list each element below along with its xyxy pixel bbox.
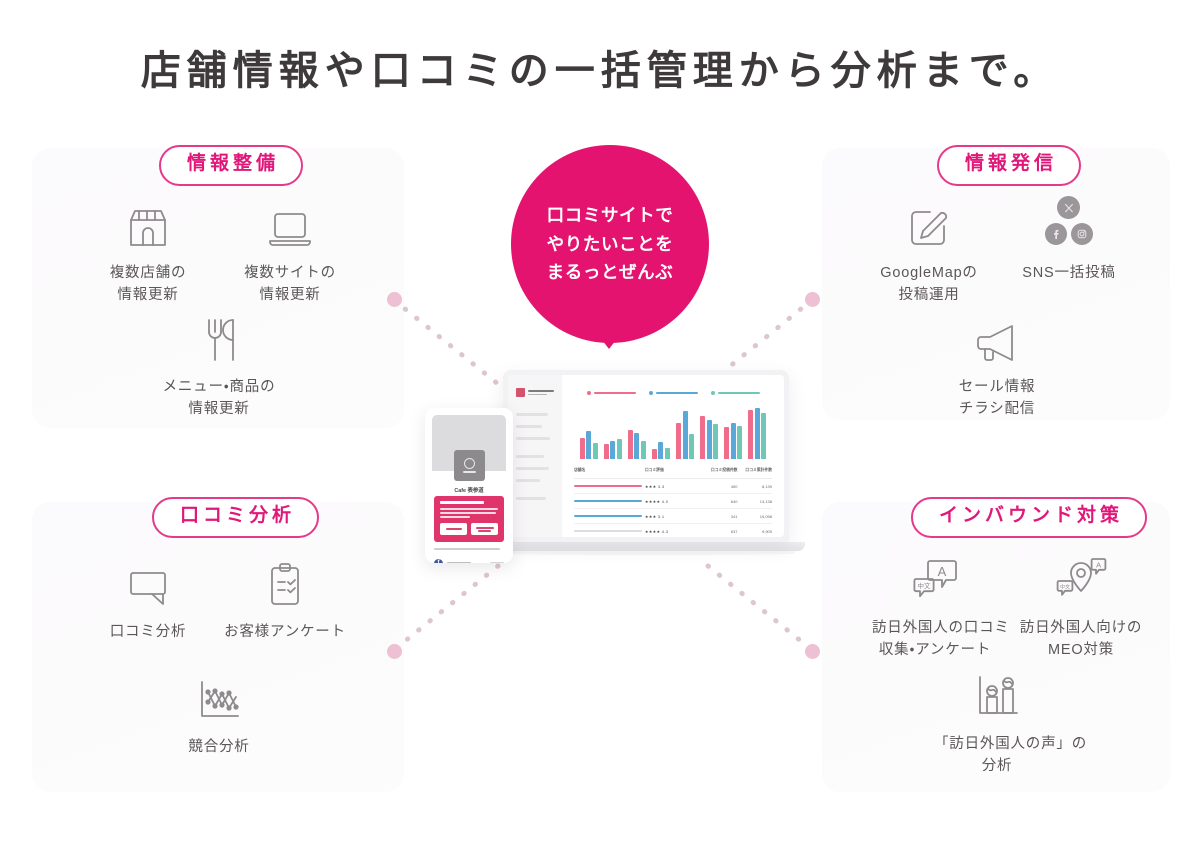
- facebook-icon: [1045, 223, 1067, 245]
- svg-text:A: A: [938, 564, 947, 579]
- feature-customer-survey: お客様アンケート: [222, 555, 348, 643]
- badge-joho-hasshin: 情報発信: [937, 145, 1081, 186]
- globe-bar-chart-icon: [934, 667, 1060, 721]
- chart-bar: [652, 449, 657, 459]
- svg-text:中文: 中文: [918, 581, 932, 590]
- table-row[interactable]: ★★★ 3.34508,139: [574, 479, 772, 494]
- cell-total: 9,909: [737, 529, 772, 534]
- cell-posts: 640: [696, 499, 738, 504]
- sidebar-nav-item[interactable]: [516, 437, 550, 440]
- chart-bar: [610, 441, 615, 459]
- survey-answer-button[interactable]: [471, 523, 498, 535]
- connector-dot-top-right: [805, 292, 820, 307]
- cell-rating: ★★★★ 4.3: [645, 529, 696, 534]
- chart-bar: [683, 411, 688, 459]
- connector-dot-top-left: [387, 292, 402, 307]
- col-header-posts: 口コミ投稿件数: [696, 468, 738, 473]
- share-label: [447, 562, 471, 563]
- chart-bar: [665, 448, 670, 459]
- connector-dot-bottom-right: [805, 644, 820, 659]
- dashboard-logo: [516, 388, 554, 397]
- dashboard-sidebar: [508, 375, 562, 537]
- badge-inbound-taisaku: インバウンド対策: [911, 497, 1147, 538]
- chart-bar: [737, 426, 742, 459]
- feature-label: 訪日外国人向けの MEO対策: [1018, 617, 1144, 662]
- col-header-total: 口コミ累計件数: [737, 468, 772, 473]
- x-twitter-icon: [1057, 196, 1080, 219]
- bar-group: [604, 439, 622, 459]
- svg-text:中文: 中文: [1060, 583, 1070, 590]
- sidebar-nav-item[interactable]: [516, 467, 549, 470]
- feature-label: 競合分析: [156, 736, 282, 758]
- bubble-line-2: やりたいことを: [547, 230, 674, 258]
- grouped-bar-chart: [574, 403, 772, 459]
- device-mockup: 店舗名 口コミ評価 口コミ投稿件数 口コミ累計件数 ★★★ 3.34508,13…: [425, 362, 805, 570]
- survey-heading: [440, 501, 484, 504]
- feature-googlemap-posting: GoogleMapの 投稿運用: [866, 196, 992, 307]
- feature-foreign-voice-analysis: 「訪日外国人の声」の 分析: [934, 667, 1060, 778]
- megaphone-icon: [935, 310, 1059, 364]
- bar-group: [700, 416, 718, 459]
- sidebar-nav-item[interactable]: [516, 413, 548, 416]
- share-action[interactable]: [490, 562, 504, 563]
- chart-bar: [707, 420, 712, 459]
- translate-bubbles-icon: A 中文: [872, 551, 998, 605]
- feature-label: 複数店舗の 情報更新: [86, 262, 210, 307]
- chart-bar: [700, 416, 705, 459]
- laptop-base: [487, 542, 805, 551]
- store-name: Cafe 表参道: [425, 486, 513, 494]
- bar-group: [652, 442, 670, 459]
- cell-store: [574, 485, 645, 488]
- edit-pencil-icon: [866, 196, 992, 250]
- table-row[interactable]: ★★★★ 4.36379,909: [574, 524, 772, 537]
- cell-store: [574, 530, 645, 533]
- feature-label: 「訪日外国人の声」の 分析: [934, 733, 1060, 778]
- chart-bar: [761, 413, 766, 459]
- chart-bar: [580, 438, 585, 459]
- chart-bar: [755, 408, 760, 459]
- bubble-line-3: まるっとぜんぶ: [547, 258, 674, 286]
- table-body: ★★★ 3.34508,139★★★★ 4.064013,138★★★ 3.13…: [574, 479, 772, 537]
- bubble-line-1: 口コミサイトで: [547, 201, 674, 229]
- chart-bar: [731, 423, 736, 459]
- storefront-icon: [86, 196, 210, 250]
- feature-review-analysis: 口コミ分析: [86, 555, 210, 643]
- cell-rating: ★★★ 3.1: [645, 514, 696, 519]
- store-logo-thumbnail: [454, 450, 485, 481]
- feature-label: 口コミ分析: [86, 621, 210, 643]
- facebook-icon: f: [434, 559, 443, 564]
- feature-foreign-review-collection: A 中文 訪日外国人の口コミ 収集・アンケート: [872, 551, 998, 662]
- feature-label: SNS一括投稿: [1006, 262, 1132, 284]
- chart-bar: [689, 434, 694, 459]
- share-note: [434, 548, 500, 550]
- feature-label: お客様アンケート: [222, 621, 348, 643]
- logo-wordmark: [528, 390, 554, 396]
- logo-mark-icon: [516, 388, 525, 397]
- survey-text-line: [440, 512, 496, 514]
- bar-group: [580, 431, 598, 459]
- bar-group: [724, 423, 742, 459]
- line-chart-icon: [156, 670, 282, 724]
- dashboard-main: 店舗名 口コミ評価 口コミ投稿件数 口コミ累計件数 ★★★ 3.34508,13…: [562, 375, 784, 537]
- feature-competitor-analysis: 競合分析: [156, 670, 282, 758]
- feature-menu-product-update: メニュー・商品の 情報更新: [156, 310, 282, 421]
- clipboard-check-icon: [222, 555, 348, 609]
- cell-posts: 450: [696, 484, 738, 489]
- bar-group: [628, 430, 646, 459]
- badge-kuchikomi-bunseki: 口コミ分析: [152, 497, 319, 538]
- chart-bar: [713, 424, 718, 459]
- legend-item: [649, 391, 698, 395]
- store-logo-glyph-icon: [464, 458, 475, 469]
- laptop-foot: [499, 551, 795, 555]
- svg-text:A: A: [1096, 561, 1101, 570]
- chart-bar: [634, 433, 639, 459]
- col-header-store: 店舗名: [574, 468, 645, 473]
- cell-posts: 341: [696, 514, 738, 519]
- feature-label: GoogleMapの 投稿運用: [866, 262, 992, 307]
- promo-infographic: 店舗情報や口コミの一括管理から分析まで。 情報整備 情報発信 口コミ分析 インバ…: [0, 0, 1200, 846]
- chart-bar: [676, 423, 681, 459]
- survey-later-button[interactable]: [440, 523, 467, 535]
- sidebar-nav-item[interactable]: [516, 455, 544, 458]
- table-row[interactable]: ★★★ 3.134115,098: [574, 509, 772, 524]
- connector-bottom-right: [700, 558, 820, 658]
- feature-label: メニュー・商品の 情報更新: [156, 376, 282, 421]
- feature-label: セール情報 チラシ配信: [935, 376, 1059, 421]
- cell-rating: ★★★★ 4.0: [645, 499, 696, 504]
- survey-prompt-card: [434, 496, 504, 542]
- phone-mockup: Cafe 表参道 f 𝕏: [425, 408, 513, 563]
- instagram-icon: [1071, 223, 1093, 245]
- center-callout-bubble: 口コミサイトで やりたいことを まるっとぜんぶ: [511, 145, 709, 343]
- feature-foreign-meo: A 中文 訪日外国人向けの MEO対策: [1018, 551, 1144, 662]
- share-list: f 𝕏: [434, 555, 504, 563]
- connector-dot-bottom-left: [387, 644, 402, 659]
- chart-bar: [593, 443, 598, 459]
- chart-bar: [658, 442, 663, 459]
- sidebar-nav-item[interactable]: [516, 497, 546, 500]
- speech-bubble-icon: [86, 555, 210, 609]
- bar-group: [676, 411, 694, 459]
- survey-buttons: [440, 523, 498, 535]
- cell-store: [574, 500, 645, 503]
- chart-bar: [604, 444, 609, 459]
- cell-total: 13,138: [737, 499, 772, 504]
- feature-label: 複数サイトの 情報更新: [228, 262, 352, 307]
- reviews-table: 店舗名 口コミ評価 口コミ投稿件数 口コミ累計件数 ★★★ 3.34508,13…: [574, 468, 772, 537]
- sidebar-nav-item[interactable]: [516, 425, 542, 428]
- cell-total: 15,098: [737, 514, 772, 519]
- feature-sale-flyer-delivery: セール情報 チラシ配信: [935, 310, 1059, 421]
- chart-bar: [586, 431, 591, 459]
- chart-bar: [748, 410, 753, 459]
- chart-bar: [724, 427, 729, 459]
- social-cluster-icon: [1006, 196, 1132, 250]
- feature-sns-bulk-post: SNS一括投稿: [1006, 196, 1132, 284]
- map-pin-translate-icon: A 中文: [1018, 551, 1144, 605]
- feature-label: 訪日外国人の口コミ 収集・アンケート: [872, 617, 998, 662]
- chart-bar: [641, 441, 646, 459]
- bar-group: [748, 408, 766, 459]
- chart-legend: [574, 391, 772, 395]
- page-title: 店舗情報や口コミの一括管理から分析まで。: [0, 38, 1200, 96]
- feature-multi-site-update: 複数サイトの 情報更新: [228, 196, 352, 307]
- legend-item: [711, 391, 760, 395]
- sidebar-nav-item[interactable]: [516, 479, 540, 482]
- cutlery-icon: [156, 310, 282, 364]
- legend-item: [587, 391, 636, 395]
- table-header-row: 店舗名 口コミ評価 口コミ投稿件数 口コミ累計件数: [574, 468, 772, 479]
- connector-bottom-left: [386, 558, 506, 658]
- col-header-rating: 口コミ評価: [645, 468, 696, 473]
- laptop-screen: 店舗名 口コミ評価 口コミ投稿件数 口コミ累計件数 ★★★ 3.34508,13…: [503, 370, 789, 542]
- chart-bar: [628, 430, 633, 459]
- cell-total: 8,139: [737, 484, 772, 489]
- chart-bar: [617, 439, 622, 459]
- store-logo-wordmark: [463, 471, 476, 474]
- table-row[interactable]: ★★★★ 4.064013,138: [574, 494, 772, 509]
- dashboard-screen: 店舗名 口コミ評価 口コミ投稿件数 口コミ累計件数 ★★★ 3.34508,13…: [508, 375, 784, 537]
- laptop-icon: [228, 196, 352, 250]
- feature-multi-store-update: 複数店舗の 情報更新: [86, 196, 210, 307]
- cell-store: [574, 515, 645, 518]
- list-item[interactable]: f: [434, 555, 504, 563]
- cell-posts: 637: [696, 529, 738, 534]
- survey-text-line: [440, 516, 470, 518]
- survey-text-line: [440, 508, 498, 510]
- badge-joho-seibi: 情報整備: [159, 145, 303, 186]
- cell-rating: ★★★ 3.3: [645, 484, 696, 489]
